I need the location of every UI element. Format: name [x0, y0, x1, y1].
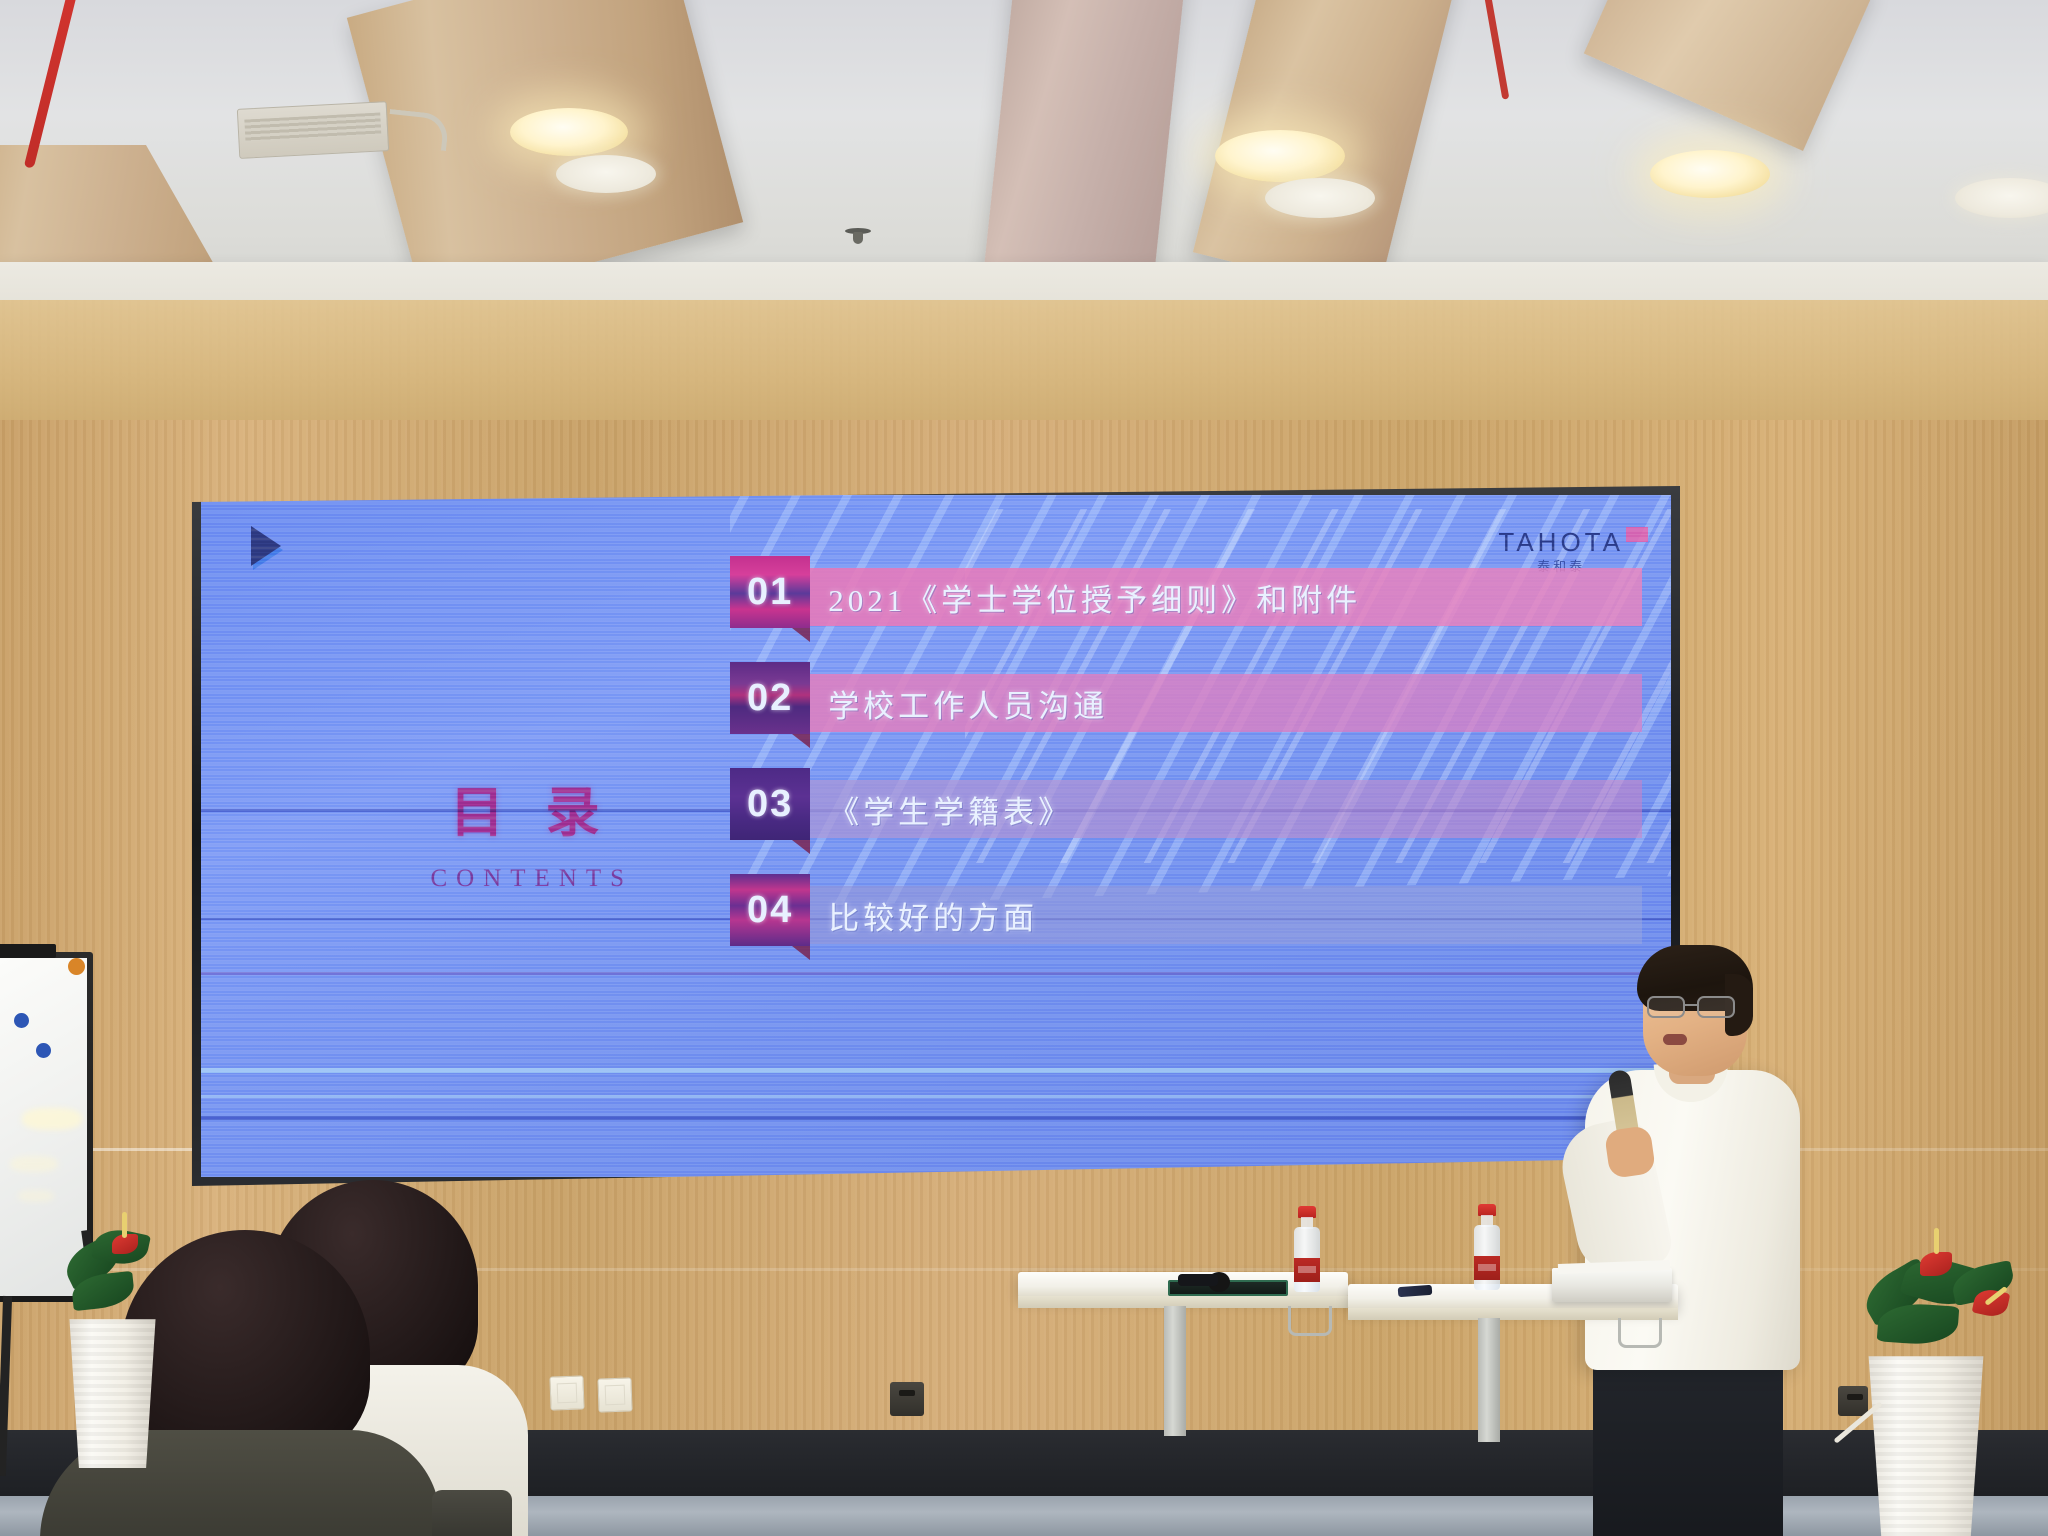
led-display-frame: TAHOTA 泰和泰 目 录 CONTENTS 01 2021《学士学位授予细则… — [192, 486, 1680, 1186]
ceiling-light-reflection — [556, 155, 656, 193]
anthurium-plant-left — [60, 1228, 165, 1468]
slide-title-en: CONTENTS — [341, 865, 723, 893]
presenter — [1585, 952, 1815, 1536]
agenda-item[interactable]: 01 2021《学士学位授予细则》和附件 — [730, 556, 1641, 644]
wall-switch[interactable] — [549, 1375, 584, 1410]
ceiling-beam — [1584, 0, 1876, 151]
wall-outlet[interactable] — [890, 1382, 924, 1416]
table-hook — [1618, 1318, 1662, 1348]
slide-title-block: 目 录 CONTENTS — [341, 768, 723, 893]
presenter-trousers — [1593, 1352, 1783, 1536]
whiteboard-clip[interactable] — [0, 944, 56, 958]
led-artifact — [201, 1095, 1671, 1098]
whiteboard-glare — [22, 1108, 82, 1130]
logo-accent-mark — [1626, 527, 1648, 542]
led-artifact — [201, 1116, 1671, 1120]
table-hook — [1288, 1306, 1332, 1336]
conference-room-scene: TAHOTA 泰和泰 目 录 CONTENTS 01 2021《学士学位授予细则… — [0, 0, 2048, 1536]
whiteboard-magnet[interactable] — [14, 1013, 29, 1028]
play-triangle-icon — [251, 526, 281, 566]
anthurium-plant-right — [1856, 1246, 1996, 1536]
whiteboard-magnet[interactable] — [36, 1043, 51, 1058]
ceiling-light-reflection — [1265, 178, 1375, 218]
agenda-item-number: 01 — [730, 556, 810, 628]
ceiling — [0, 0, 2048, 330]
led-artifact — [201, 972, 1671, 975]
ceiling-light — [1650, 150, 1770, 198]
device-on-table[interactable] — [1178, 1274, 1218, 1286]
chair-back — [432, 1490, 512, 1536]
ceiling-air-conditioner-icon — [237, 101, 389, 159]
agenda-item-label: 《学生学籍表》 — [792, 780, 1641, 838]
agenda-item-label: 学校工作人员沟通 — [792, 674, 1641, 732]
red-cable — [1482, 0, 1510, 100]
agenda-item[interactable]: 02 学校工作人员沟通 — [730, 662, 1641, 750]
ceiling-light-reflection — [1955, 178, 2048, 218]
agenda-item-label: 2021《学士学位授予细则》和附件 — [792, 568, 1641, 626]
red-cable — [24, 0, 83, 168]
ceiling-light — [510, 108, 628, 156]
whiteboard-magnet[interactable] — [68, 958, 85, 975]
presenter-hand — [1604, 1125, 1656, 1179]
fire-sprinkler-icon — [845, 228, 871, 248]
slide-title-cn: 目 录 — [341, 768, 723, 847]
agenda-item[interactable]: 04 比较好的方面 — [730, 874, 1641, 962]
agenda-item-label: 比较好的方面 — [792, 886, 1641, 944]
agenda-item[interactable]: 03 《学生学籍表》 — [730, 768, 1641, 856]
led-artifact — [201, 1068, 1671, 1073]
agenda-item-number: 02 — [730, 662, 810, 734]
eyeglasses-icon — [1647, 996, 1743, 1018]
wall-upper-band — [0, 300, 2048, 420]
table-leg — [1478, 1318, 1500, 1442]
ceiling-light — [1215, 130, 1345, 182]
plant-pot — [1856, 1356, 1996, 1536]
logo-wordmark: TAHOTA — [1498, 529, 1624, 555]
agenda-item-number: 03 — [730, 768, 810, 840]
paper-stack[interactable] — [1552, 1268, 1672, 1302]
wall-switch[interactable] — [597, 1377, 632, 1412]
whiteboard-glare — [18, 1190, 54, 1202]
table-leg — [1164, 1306, 1186, 1436]
plant-pot — [60, 1319, 165, 1468]
presentation-slide[interactable]: TAHOTA 泰和泰 目 录 CONTENTS 01 2021《学士学位授予细则… — [201, 495, 1671, 1177]
slide-agenda-list: 01 2021《学士学位授予细则》和附件 02 学校工作人员沟通 03 《学生学… — [730, 556, 1641, 980]
presenter-mouth — [1663, 1034, 1687, 1045]
whiteboard-glare — [10, 1156, 58, 1172]
agenda-item-number: 04 — [730, 874, 810, 946]
